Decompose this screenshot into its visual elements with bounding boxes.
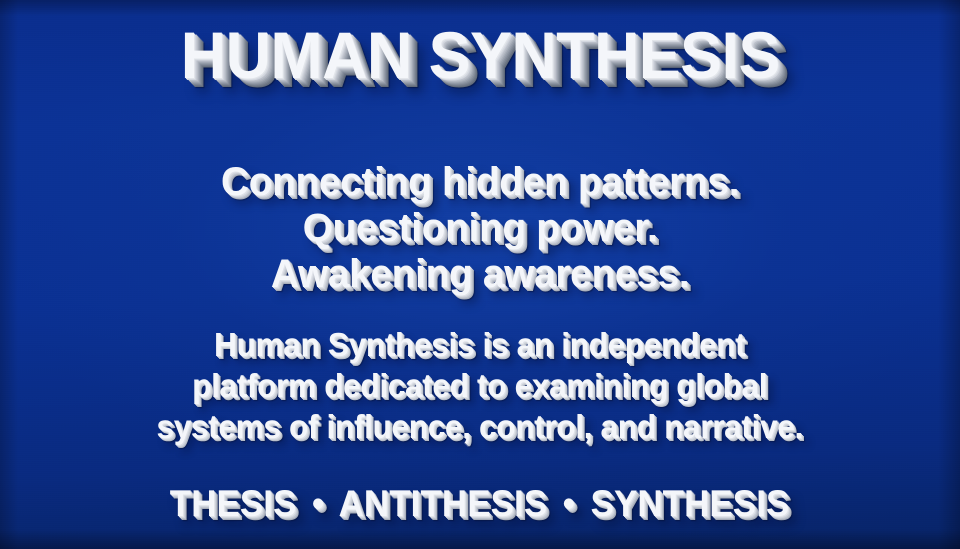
motto-item-antithesis: ANTITHESIS	[339, 483, 548, 524]
description-paragraph: Human Synthesis is an independent platfo…	[143, 328, 816, 443]
description-line-2: platform dedicated to examining global	[157, 369, 803, 402]
bullet-separator-icon: •	[557, 483, 581, 524]
description-line-3: systems of influence, control, and narra…	[157, 410, 803, 443]
page-title: HUMAN SYNTHESIS	[180, 22, 779, 88]
tagline-line-3: Awakening awareness.	[221, 254, 739, 294]
tagline-group: Connecting hidden patterns. Questioning …	[213, 162, 747, 294]
tagline-line-1: Connecting hidden patterns.	[221, 162, 739, 202]
motto-item-thesis: THESIS	[170, 483, 297, 524]
motto-item-synthesis: SYNTHESIS	[591, 483, 790, 524]
bullet-separator-icon: •	[307, 483, 331, 524]
motto-line: THESIS • ANTITHESIS • SYNTHESIS	[170, 485, 790, 522]
banner-canvas: HUMAN SYNTHESIS Connecting hidden patter…	[0, 0, 960, 549]
description-line-1: Human Synthesis is an independent	[157, 328, 803, 361]
banner-content: HUMAN SYNTHESIS Connecting hidden patter…	[0, 0, 960, 549]
tagline-line-2: Questioning power.	[221, 208, 739, 248]
